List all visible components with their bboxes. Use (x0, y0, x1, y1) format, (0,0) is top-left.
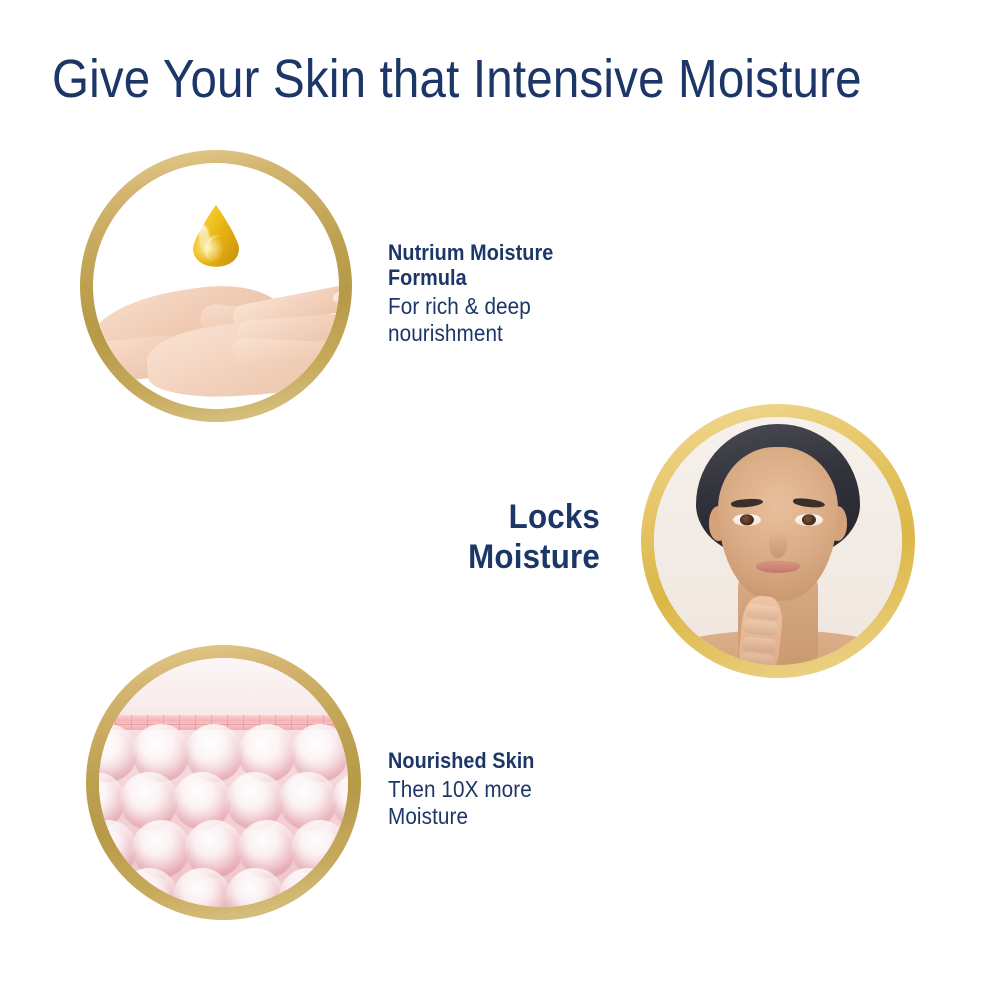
feature-image-nutrium-moisture-formula (80, 150, 352, 422)
oil-droplet-icon (193, 205, 239, 267)
caption-sub-line-2: nourishment (388, 320, 649, 347)
caption-sub-line-1: Then 10X more (388, 776, 649, 803)
hand-palm-finger-3 (231, 337, 339, 368)
caption-sub-line-2: Moisture (388, 803, 649, 830)
infographic-canvas: Give Your Skin that Intensive Moisture (0, 0, 1000, 1000)
caption-heading-line-1: Nutrium Moisture (388, 240, 649, 265)
portrait-nose (769, 531, 786, 558)
caption-heading-line-1: Locks (306, 497, 600, 537)
feature-caption-nutrium-moisture-formula: Nutrium Moisture Formula For rich & deep… (388, 240, 678, 347)
feature-image-well (93, 163, 339, 409)
caption-sub-line-1: For rich & deep (388, 293, 649, 320)
portrait-eye-left (733, 514, 760, 526)
chin-hand-finger-4 (740, 652, 776, 665)
feature-image-well (654, 417, 902, 665)
feature-caption-locks-moisture: Locks Moisture (280, 497, 600, 577)
caption-heading: Nourished Skin (388, 748, 649, 773)
skin-cells-icon (99, 658, 348, 907)
feature-image-well (99, 658, 348, 907)
dermis-cell-field (99, 730, 348, 907)
face-icon (654, 417, 902, 665)
chin-hand-finger-3 (741, 635, 777, 653)
portrait-eye-right (795, 514, 822, 526)
feature-image-locks-moisture (641, 404, 915, 678)
portrait-iris-left (740, 514, 754, 525)
chin-hand-finger-2 (743, 619, 779, 637)
cell-row (99, 868, 348, 907)
epidermis-layer (99, 658, 348, 723)
fingernail (332, 291, 339, 305)
fingernail (324, 347, 339, 358)
caption-heading-line-2: Moisture (306, 537, 600, 577)
feature-image-nourished-skin (86, 645, 361, 920)
caption-heading-line-2: Formula (388, 265, 649, 290)
chin-hand-finger-1 (745, 603, 781, 621)
page-title: Give Your Skin that Intensive Moisture (52, 48, 853, 110)
hands-icon (93, 276, 339, 409)
feature-caption-nourished-skin: Nourished Skin Then 10X more Moisture (388, 748, 678, 830)
portrait-iris-right (802, 514, 816, 525)
fingernail (334, 320, 339, 332)
